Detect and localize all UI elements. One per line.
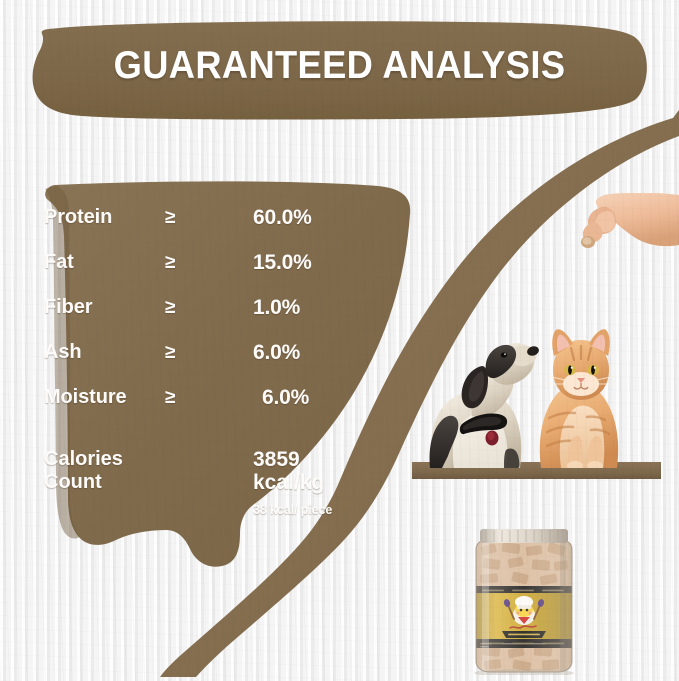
nutrient-value: 6.0% (262, 386, 309, 410)
table-row: Fiber ≥ 1.0% (44, 296, 354, 341)
orange-tabby-cat (527, 318, 632, 468)
dog-looking-up (420, 320, 540, 468)
product-jar[interactable] (468, 527, 580, 675)
nutrient-label: Fat (44, 251, 74, 274)
product-infographic: GUARANTEED ANALYSIS Protein ≥ 60.0% Fat … (0, 0, 679, 681)
hand-offering-treat-icon (558, 193, 679, 263)
nutrient-label: Protein (44, 206, 112, 229)
nutrient-value: 60.0% (253, 206, 312, 230)
table-row: Protein ≥ 60.0% (44, 206, 354, 251)
nutrient-value: 15.0% (253, 251, 312, 275)
calories-value: 3859 kcal/kg (253, 448, 324, 494)
calories-label: Calories Count (44, 448, 123, 494)
nutrient-value: 6.0% (253, 341, 300, 365)
nutrient-label: Ash (44, 341, 81, 364)
jar-lid (480, 529, 568, 543)
nutrient-value: 1.0% (253, 296, 300, 320)
nutrient-operator: ≥ (165, 252, 175, 274)
page-title: GUARANTEED ANALYSIS (24, 44, 655, 88)
guaranteed-analysis-table: Protein ≥ 60.0% Fat ≥ 15.0% Fiber ≥ 1.0%… (44, 206, 354, 431)
calories-per-piece-note: 38 kcal/ piece (253, 503, 332, 517)
table-row: Ash ≥ 6.0% (44, 341, 354, 386)
jar-treats (476, 539, 572, 673)
calories-label-line2: Count (44, 471, 102, 493)
nutrient-operator: ≥ (165, 207, 175, 229)
nutrient-label: Fiber (44, 296, 92, 319)
calories-value-number: 3859 (253, 448, 300, 471)
nutrient-operator: ≥ (165, 342, 175, 364)
table-row: Moisture ≥ 6.0% (44, 386, 354, 431)
nutrient-label: Moisture (44, 386, 127, 409)
calories-label-line1: Calories (44, 448, 123, 470)
nutrient-operator: ≥ (165, 387, 175, 409)
calories-value-unit: kcal/kg (253, 471, 324, 494)
nutrient-operator: ≥ (165, 297, 175, 319)
table-row: Fat ≥ 15.0% (44, 251, 354, 296)
